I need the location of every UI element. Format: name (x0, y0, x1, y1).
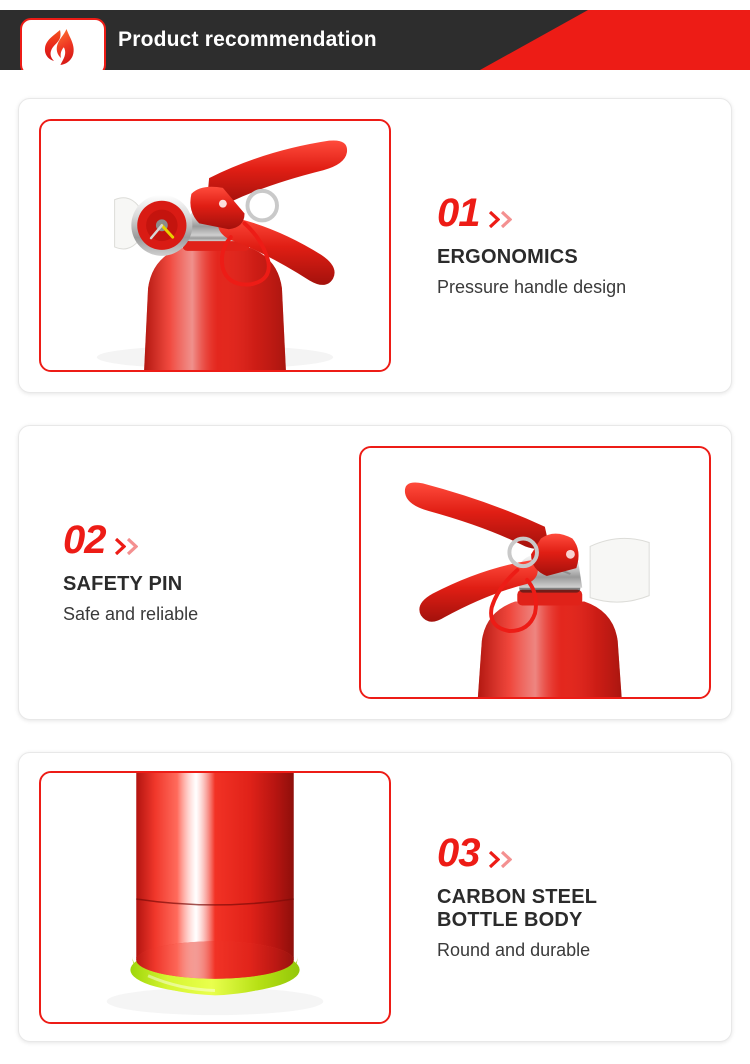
feature-subtitle: Safe and reliable (63, 603, 339, 626)
product-photo-frame (39, 771, 391, 1024)
fire-extinguisher-handle-image (41, 121, 389, 370)
fire-extinguisher-safety-pin-image (361, 448, 709, 697)
feature-title: SAFETY PIN (63, 573, 339, 597)
flame-icon (42, 27, 84, 67)
feature-number: 03 (437, 833, 480, 873)
product-recommendation-page: Product recommendation (0, 10, 750, 1064)
double-chevron-right-icon (489, 211, 512, 233)
feature-number-row: 01 (437, 193, 711, 233)
feature-card[interactable]: 02 SAFETY PIN Safe and reliable (18, 425, 732, 720)
feature-title: ERGONOMICS (437, 246, 711, 270)
feature-subtitle: Pressure handle design (437, 276, 711, 299)
double-chevron-right-icon (115, 538, 138, 560)
double-chevron-right-icon (489, 851, 512, 873)
brand-logo (20, 18, 106, 70)
feature-card-list: 01 ERGONOMICS Pressure handle design (0, 98, 750, 1042)
feature-card[interactable]: 01 ERGONOMICS Pressure handle design (18, 98, 732, 393)
feature-subtitle: Round and durable (437, 939, 711, 962)
feature-text-block: 01 ERGONOMICS Pressure handle design (391, 193, 731, 298)
feature-text-block: 03 CARBON STEEL BOTTLE BODY Round and du… (391, 833, 731, 962)
feature-number-row: 02 (63, 520, 339, 560)
product-photo-frame (359, 446, 711, 699)
header-title: Product recommendation (118, 10, 377, 70)
feature-card[interactable]: 03 CARBON STEEL BOTTLE BODY Round and du… (18, 752, 732, 1042)
page-header: Product recommendation (0, 10, 750, 70)
fire-extinguisher-base-image (41, 773, 389, 1022)
feature-number-row: 03 (437, 833, 711, 873)
feature-text-block: 02 SAFETY PIN Safe and reliable (19, 520, 359, 625)
feature-number: 02 (63, 520, 106, 560)
product-photo-frame (39, 119, 391, 372)
feature-number: 01 (437, 193, 480, 233)
feature-title: CARBON STEEL BOTTLE BODY (437, 886, 711, 933)
